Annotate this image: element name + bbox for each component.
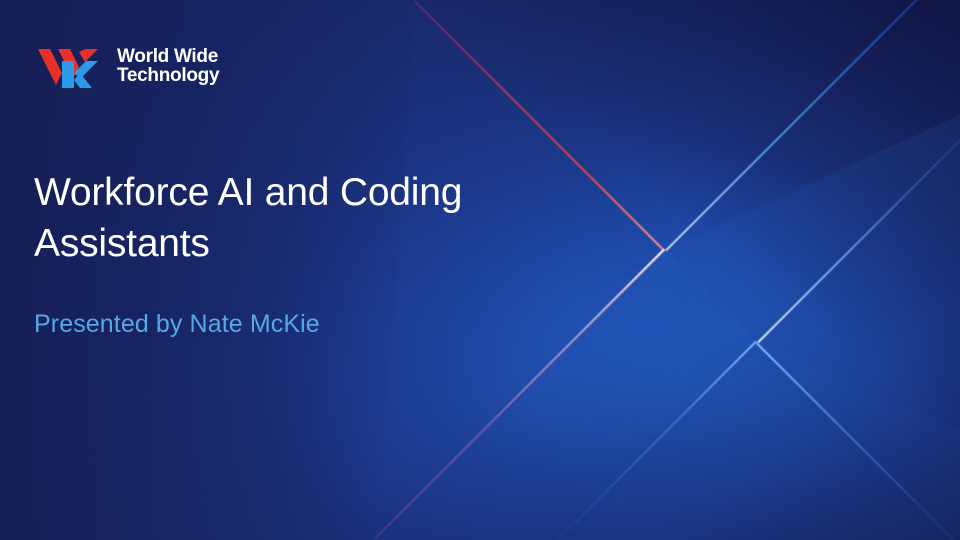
wwt-wordmark: World Wide Technology: [117, 47, 219, 86]
wwt-wordmark-line-2: Technology: [117, 66, 219, 85]
wwt-logo-mark-icon: [38, 40, 106, 92]
wwt-logo[interactable]: World Wide Technology: [38, 40, 219, 92]
title-slide: World Wide Technology Workforce AI and C…: [0, 0, 960, 540]
slide-subtitle: Presented by Nate McKie: [34, 310, 320, 339]
wwt-wordmark-line-1: World Wide: [117, 47, 219, 66]
slide-title: Workforce AI and Coding Assistants: [34, 168, 594, 269]
